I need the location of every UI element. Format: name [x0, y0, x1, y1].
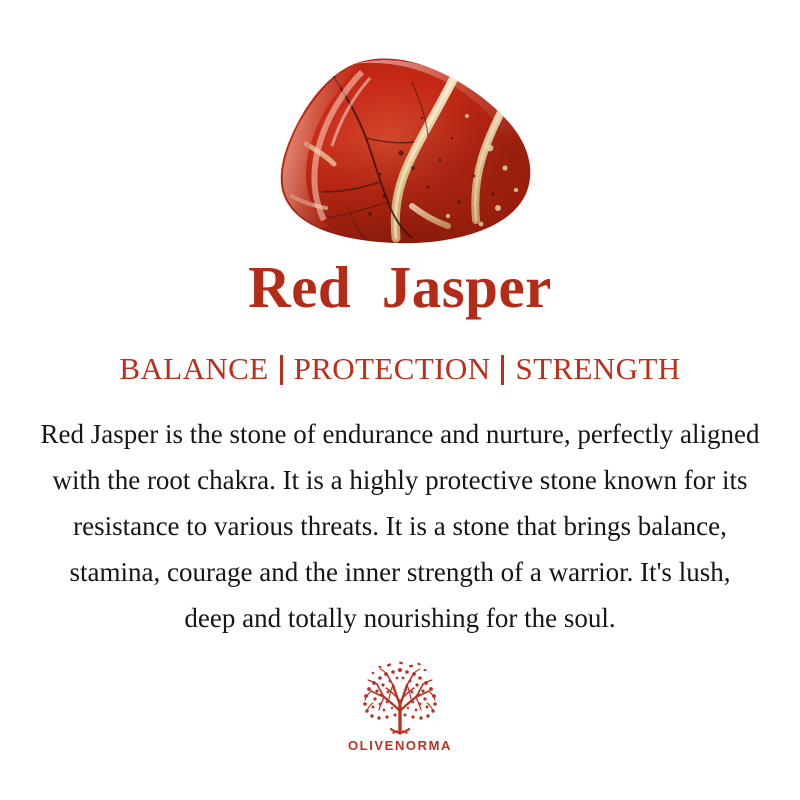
- page-title: Red Jasper: [248, 258, 552, 317]
- red-jasper-stone-image: [262, 56, 548, 252]
- product-image-container: [0, 0, 800, 258]
- keyword-separator-1: [280, 355, 283, 385]
- stone-body: [262, 56, 548, 252]
- description-line: Red Jasper is the stone of endurance and…: [5, 411, 795, 457]
- tree-of-life-icon: [351, 661, 449, 737]
- description-line: with the root chakra. It is a highly pro…: [5, 457, 795, 503]
- keyword-strength: STRENGTH: [509, 353, 686, 384]
- brand-logo: OLIVENORMA: [348, 661, 452, 752]
- keyword-protection: PROTECTION: [288, 353, 497, 384]
- keyword-balance: BALANCE: [113, 353, 274, 384]
- keyword-list: BALANCE PROTECTION STRENGTH: [113, 353, 686, 384]
- description-line: deep and totally nourishing for the soul…: [5, 595, 795, 641]
- description-line: stamina, courage and the inner strength …: [5, 549, 795, 595]
- brand-wordmark: OLIVENORMA: [348, 739, 452, 752]
- product-description: Red Jasper is the stone of endurance and…: [5, 411, 795, 641]
- keyword-separator-2: [501, 355, 504, 385]
- product-info-card: Red Jasper BALANCE PROTECTION STRENGTH R…: [0, 0, 800, 800]
- description-line: resistance to various threats. It is a s…: [5, 503, 795, 549]
